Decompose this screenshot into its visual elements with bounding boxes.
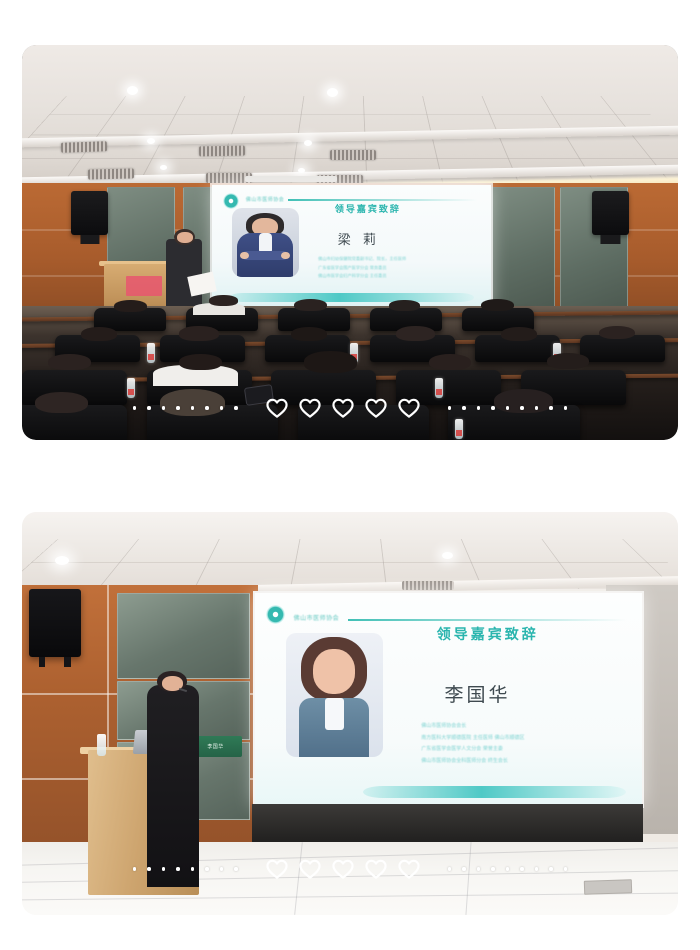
water-bottle — [127, 378, 135, 398]
audience-head — [494, 389, 553, 413]
slide-brand-text: 佛山市医师协会 — [294, 613, 340, 622]
floor-outlet — [584, 879, 632, 895]
podium-nameplate-label: 李国华 — [207, 743, 223, 750]
screen-housing — [245, 176, 337, 182]
audience-head — [179, 354, 222, 370]
glass-wall-panel — [117, 593, 250, 680]
ceiling — [22, 512, 678, 589]
slide-portrait — [232, 208, 299, 277]
slide-accent-band — [229, 293, 474, 302]
stage-speaker-photo: 佛山市医师协会 领导嘉宾致辞 李国华 佛山市医师协会会长 南方医科大学顺德医院 … — [22, 512, 678, 915]
loudspeaker-icon — [29, 589, 81, 658]
slide-title: 领导嘉宾致辞 — [437, 624, 539, 644]
audience-head — [160, 389, 226, 416]
podium-sign — [126, 276, 162, 296]
phone-held-up — [244, 384, 274, 406]
ac-vent-icon — [87, 169, 133, 180]
water-bottle — [435, 378, 443, 398]
audience-head — [389, 300, 419, 311]
ac-vent-icon — [199, 145, 245, 156]
slide-body-line: 广东省医学会围产医学分会 常务委员 — [318, 265, 480, 272]
slide-body-line: 佛山市医师协会会长 — [421, 723, 630, 731]
photo-collage-page: 佛山市医师协会 领导嘉宾致辞 梁 莉 佛山市妇幼保健院党委副书记、院长，主任医师… — [0, 0, 700, 950]
audience-head — [481, 299, 514, 311]
audience-head — [209, 295, 238, 306]
audience-head — [179, 326, 218, 341]
audience-area — [22, 306, 678, 440]
water-bottle — [147, 343, 155, 363]
audience-head — [547, 353, 590, 369]
chair — [396, 370, 501, 405]
audience-head — [304, 351, 356, 372]
loudspeaker-icon — [71, 191, 108, 234]
audience-head — [429, 354, 472, 370]
slide-brand-text: 佛山市医师协会 — [246, 196, 285, 203]
audience-head — [501, 327, 537, 340]
audience-head — [48, 354, 91, 370]
slide-rule — [348, 619, 627, 621]
chair — [298, 405, 429, 440]
conference-hall-audience-photo: 佛山市医师协会 领导嘉宾致辞 梁 莉 佛山市妇幼保健院党委副书记、院长，主任医师… — [22, 45, 678, 440]
audience-head — [599, 326, 635, 339]
audience-head — [291, 327, 327, 340]
slide-speaker-name: 李国华 — [445, 680, 511, 707]
downlight-icon — [298, 168, 305, 173]
slide-body-line: 佛山市医师协会全科医师分会 终生会长 — [421, 758, 630, 766]
screen-skirt — [252, 804, 643, 844]
slide-body-line: 佛山市医学会妇产科学分会 主任委员 — [318, 273, 480, 280]
audience-head — [81, 327, 117, 340]
slide-portrait — [286, 633, 383, 757]
audience-head — [35, 392, 87, 413]
projection-screen: 佛山市医师协会 领导嘉宾致辞 李国华 佛山市医师协会会长 南方医科大学顺德医院 … — [255, 593, 642, 807]
downlight-icon — [327, 88, 338, 97]
chair — [580, 335, 665, 362]
downlight-icon — [304, 140, 312, 146]
ac-vent-icon — [61, 141, 107, 153]
audience-head — [114, 300, 147, 312]
glass-wall-panel — [488, 187, 556, 308]
chair — [271, 370, 376, 405]
slide-body-line: 广东省医学会医学人文分会 荣誉主委 — [421, 746, 630, 754]
audience-head — [396, 326, 435, 341]
slide-title: 领导嘉宾致辞 — [335, 202, 401, 215]
slide-rule — [288, 199, 478, 201]
loudspeaker-icon — [592, 191, 629, 234]
speaker-face — [177, 232, 193, 243]
downlight-icon — [147, 138, 155, 144]
slide-accent-band — [363, 786, 626, 798]
circular-teal-logo-icon — [223, 193, 239, 209]
ac-vent-icon — [402, 581, 454, 590]
slide-body-line: 南方医科大学顺德医院 主任医师 佛山市顺德区 — [421, 735, 630, 743]
water-bottle — [455, 419, 463, 439]
slide-body-line: 佛山市妇幼保健院党委副书记、院长，主任医师 — [318, 256, 480, 263]
water-bottle — [97, 734, 106, 756]
audience-head — [294, 299, 327, 311]
projection-screen: 佛山市医师协会 领导嘉宾致辞 梁 莉 佛山市妇幼保健院党委副书记、院长，主任医师… — [212, 185, 491, 307]
ac-vent-icon — [330, 150, 376, 160]
speaker-person — [147, 685, 199, 887]
circular-teal-logo-icon — [266, 605, 285, 624]
slide-speaker-name: 梁 莉 — [338, 229, 380, 248]
